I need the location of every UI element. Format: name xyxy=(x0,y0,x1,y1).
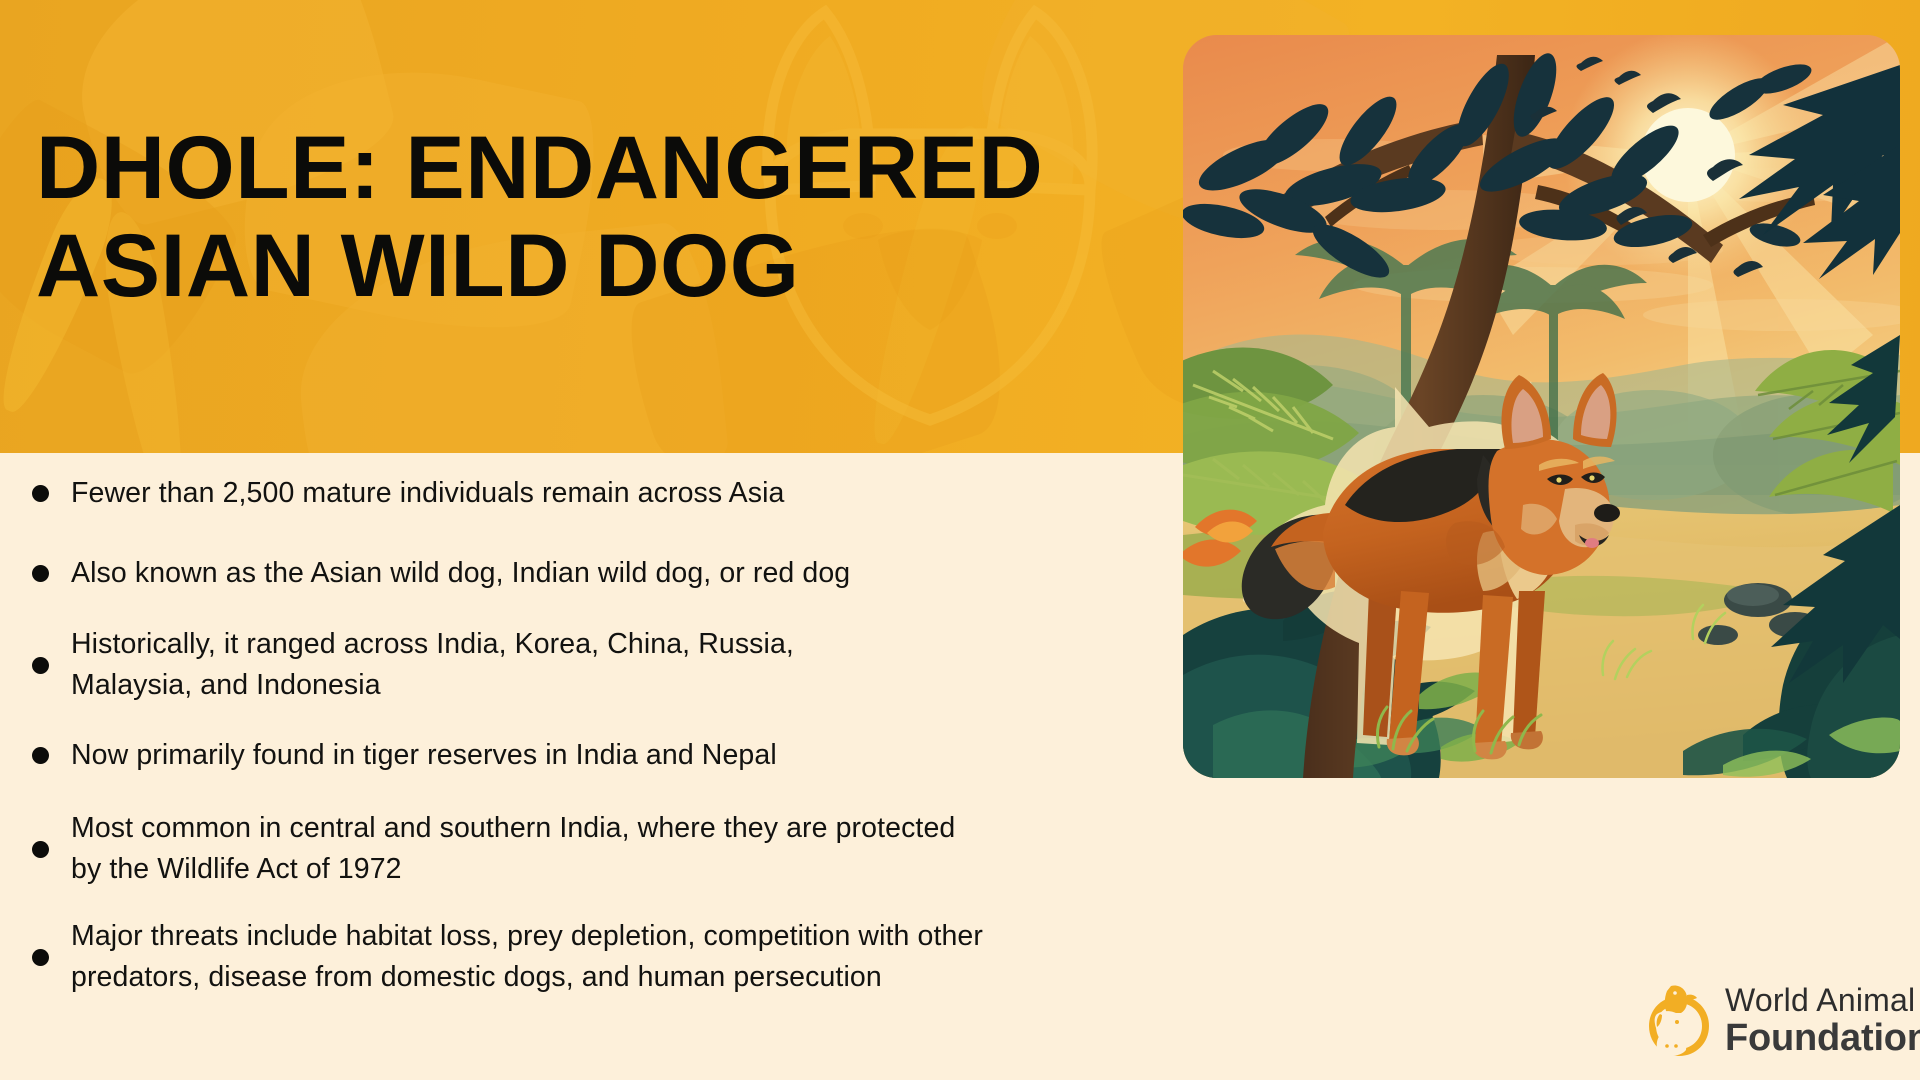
logo-line-foundation: Foundation xyxy=(1725,1019,1920,1057)
list-item-line: by the Wildlife Act of 1972 xyxy=(71,849,955,890)
bird-dog-cat-circle-icon xyxy=(1643,982,1715,1058)
list-item: Historically, it ranged across India, Ko… xyxy=(24,624,1184,706)
page-title: DHOLE: ENDANGERED ASIAN WILD DOG xyxy=(36,118,976,314)
bullet-dot-icon xyxy=(32,485,49,502)
logo-wordmark: World Animal Foundation xyxy=(1725,984,1920,1057)
list-item-text: Major threats include habitat loss, prey… xyxy=(71,916,983,998)
list-item-text: Historically, it ranged across India, Ko… xyxy=(71,624,794,706)
bullet-dot-icon xyxy=(32,841,49,858)
list-item-text: Most common in central and southern Indi… xyxy=(71,808,955,890)
list-item: Most common in central and southern Indi… xyxy=(24,808,1184,890)
list-item-line: Fewer than 2,500 mature individuals rema… xyxy=(71,473,785,514)
title-line-1: DHOLE: ENDANGERED xyxy=(36,118,976,216)
dhole-illustration xyxy=(1183,35,1900,778)
title-line-2: ASIAN WILD DOG xyxy=(36,216,976,314)
fact-list: Fewer than 2,500 mature individuals rema… xyxy=(24,470,1184,998)
bullet-dot-icon xyxy=(32,657,49,674)
list-item-line: predators, disease from domestic dogs, a… xyxy=(71,957,983,998)
list-item-line: Malaysia, and Indonesia xyxy=(71,665,794,706)
list-item-line: Now primarily found in tiger reserves in… xyxy=(71,735,777,776)
list-item-line: Historically, it ranged across India, Ko… xyxy=(71,624,794,665)
list-item-text: Fewer than 2,500 mature individuals rema… xyxy=(71,473,785,514)
list-item: Now primarily found in tiger reserves in… xyxy=(24,732,1184,778)
list-item-line: Most common in central and southern Indi… xyxy=(71,808,955,849)
infographic-page: DHOLE: ENDANGERED ASIAN WILD DOG Fewer t… xyxy=(0,0,1920,1080)
world-animal-foundation-logo: World Animal Foundation xyxy=(1643,978,1903,1062)
list-item: Major threats include habitat loss, prey… xyxy=(24,916,1184,998)
list-item: Also known as the Asian wild dog, Indian… xyxy=(24,550,1184,596)
list-item-line: Major threats include habitat loss, prey… xyxy=(71,916,983,957)
list-item-text: Also known as the Asian wild dog, Indian… xyxy=(71,553,850,594)
bullet-dot-icon xyxy=(32,949,49,966)
logo-line-world-animal: World Animal xyxy=(1725,984,1920,1016)
list-item-text: Now primarily found in tiger reserves in… xyxy=(71,735,777,776)
bullet-dot-icon xyxy=(32,747,49,764)
list-item: Fewer than 2,500 mature individuals rema… xyxy=(24,470,1184,516)
list-item-line: Also known as the Asian wild dog, Indian… xyxy=(71,553,850,594)
bullet-dot-icon xyxy=(32,565,49,582)
